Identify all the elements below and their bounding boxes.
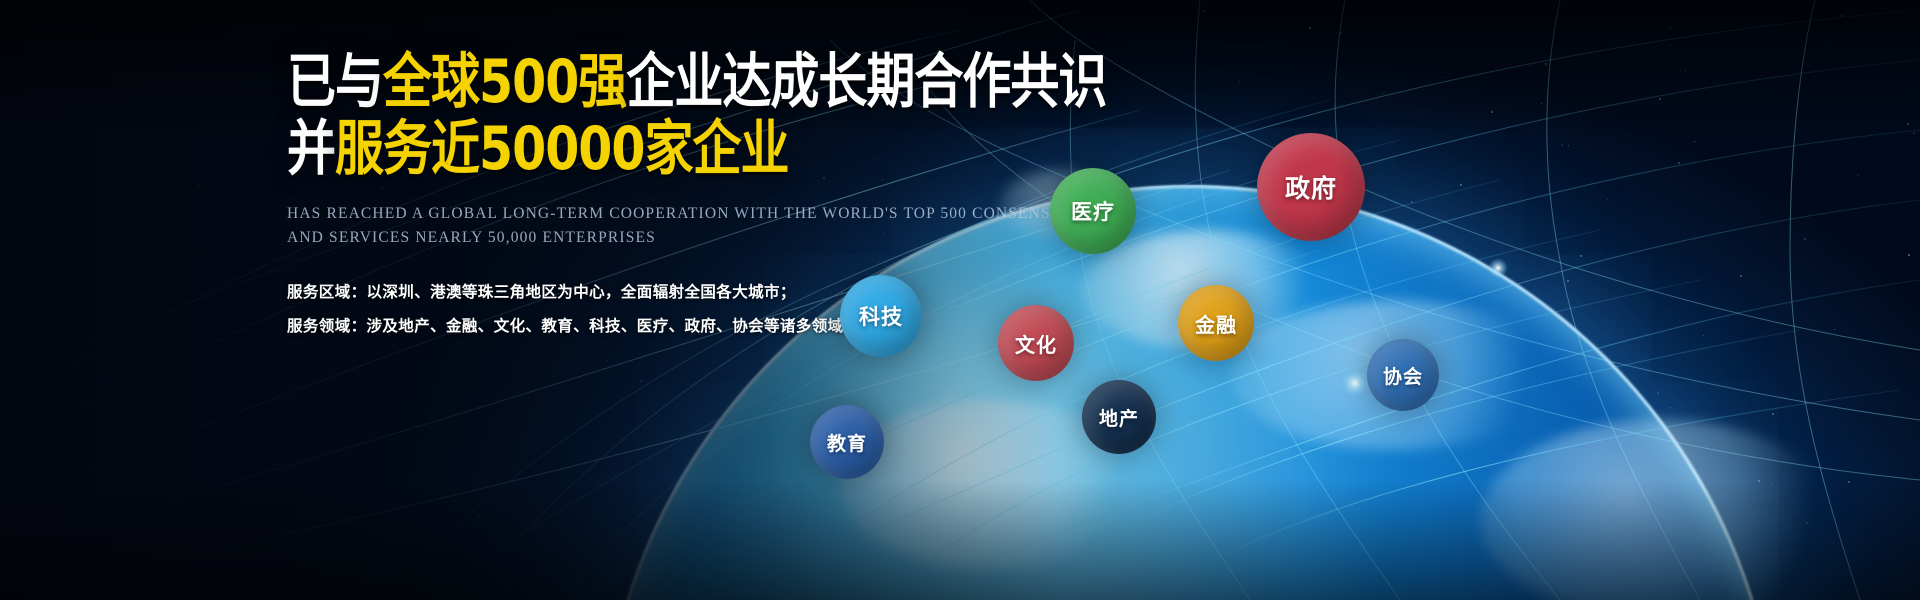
body-line-service-area: 服务区域：以深圳、港澳等珠三角地区为中心，全面辐射全国各大城市； bbox=[287, 280, 1047, 302]
headline-seg-1a: 已与 bbox=[287, 47, 383, 117]
headline-seg-1c: 企业达成长期合作共识 bbox=[626, 47, 1106, 117]
headline-seg-2a: 并 bbox=[287, 114, 335, 184]
sector-bubble-7[interactable]: 教育 bbox=[810, 405, 884, 479]
sector-bubble-3[interactable]: 金融 bbox=[1178, 285, 1254, 361]
sector-bubble-label: 政府 bbox=[1285, 169, 1337, 205]
english-line-2: AND SERVICES NEARLY 50,000 ENTERPRISES bbox=[287, 226, 1047, 250]
sector-bubble-5[interactable]: 协会 bbox=[1367, 339, 1439, 411]
english-line-1: HAS REACHED A GLOBAL LONG-TERM COOPERATI… bbox=[287, 202, 1047, 226]
headline-seg-2b: 服务近50000家企业 bbox=[335, 114, 788, 184]
sector-bubble-1[interactable]: 医疗 bbox=[1050, 168, 1136, 254]
sector-bubble-label: 科技 bbox=[859, 301, 903, 331]
body-text: 服务区域：以深圳、港澳等珠三角地区为中心，全面辐射全国各大城市； 服务领域：涉及… bbox=[287, 280, 1047, 336]
sector-bubble-0[interactable]: 政府 bbox=[1257, 133, 1365, 241]
sector-bubble-label: 地产 bbox=[1099, 404, 1139, 431]
sector-bubble-label: 医疗 bbox=[1071, 196, 1115, 226]
headline-seg-1b: 全球500强 bbox=[383, 47, 626, 117]
headline-line-1: 已与全球500强企业达成长期合作共识 bbox=[287, 52, 1047, 112]
sector-bubble-4[interactable]: 文化 bbox=[998, 305, 1074, 381]
sector-bubble-label: 教育 bbox=[827, 429, 867, 456]
headline-line-2: 并服务近50000家企业 bbox=[287, 119, 1047, 179]
sector-bubble-6[interactable]: 地产 bbox=[1082, 380, 1156, 454]
sector-bubble-label: 协会 bbox=[1383, 362, 1423, 389]
promo-banner: 已与全球500强企业达成长期合作共识 并服务近50000家企业 HAS REAC… bbox=[0, 0, 1920, 600]
english-subtitle: HAS REACHED A GLOBAL LONG-TERM COOPERATI… bbox=[287, 202, 1047, 250]
sector-bubble-label: 金融 bbox=[1195, 309, 1237, 338]
page-title: 已与全球500强企业达成长期合作共识 并服务近50000家企业 bbox=[287, 52, 1047, 168]
body-line-service-field: 服务领域：涉及地产、金融、文化、教育、科技、医疗、政府、协会等诸多领域。 bbox=[287, 314, 1047, 336]
sector-bubble-2[interactable]: 科技 bbox=[840, 275, 922, 357]
sector-bubble-label: 文化 bbox=[1015, 329, 1057, 358]
copy-block: 已与全球500强企业达成长期合作共识 并服务近50000家企业 HAS REAC… bbox=[287, 52, 1047, 348]
